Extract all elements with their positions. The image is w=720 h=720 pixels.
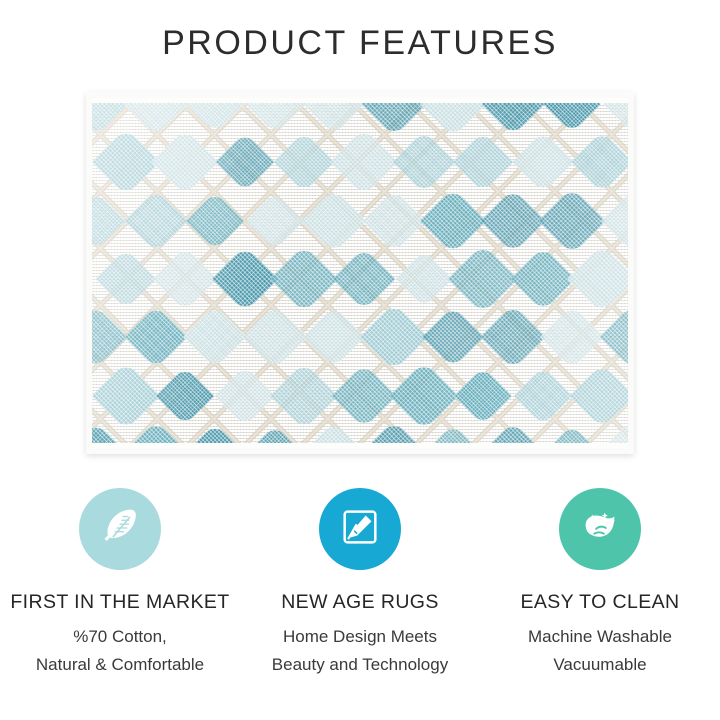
rug-motif-tile [480, 421, 545, 454]
feature-badge-2 [319, 488, 401, 570]
rug-motif-tile [183, 305, 247, 369]
feature-desc-3: Machine Washable Vacuumable [528, 623, 672, 679]
rug-motif-tile [389, 361, 459, 431]
rug-motif-tile [122, 420, 189, 454]
rug-motif-tile [124, 305, 188, 369]
design-pen-ruler-icon [337, 504, 383, 555]
feature-desc-2-line-1: Home Design Meets [272, 623, 448, 651]
feature-desc-1-line-2: Natural & Comfortable [36, 651, 204, 679]
rug-motif-tile [331, 363, 396, 428]
rug-motif-tile [270, 362, 338, 430]
rug-motifs [92, 98, 628, 448]
rug-motif-tile [214, 365, 275, 426]
rug-motif-tile [567, 244, 634, 314]
rug-motif-tile [360, 420, 428, 454]
rug-motif-tile [185, 423, 246, 454]
feature-badge-1 [79, 488, 161, 570]
rug-motif-tile [274, 132, 335, 193]
rug-motif-tile [86, 191, 125, 250]
rug-motif-tile [212, 246, 278, 312]
feature-desc-2: Home Design Meets Beauty and Technology [272, 623, 448, 679]
rug-motif-tile [152, 129, 219, 196]
feature-badge-3 [559, 488, 641, 570]
product-image [86, 92, 634, 454]
rug-motif-tile [95, 248, 156, 309]
rug-motif-tile [86, 305, 128, 369]
feature-desc-1-line-1: %70 Cotton, [36, 623, 204, 651]
rug-motif-tile [156, 366, 215, 425]
feature-desc-1: %70 Cotton, Natural & Comfortable [36, 623, 204, 679]
features-row: FIRST IN THE MARKET %70 Cotton, Natural … [0, 488, 720, 679]
rug-motif-tile [454, 367, 512, 425]
feature-title-3: EASY TO CLEAN [520, 591, 679, 614]
rug-top-edge [92, 98, 628, 103]
rug-motif-tile [423, 424, 483, 454]
rug-motif-tile [395, 250, 452, 307]
rug-motif-tile [570, 363, 634, 428]
rug-motif-tile [330, 128, 398, 196]
feature-desc-3-line-2: Vacuumable [528, 651, 672, 679]
feature-desc-2-line-2: Beauty and Technology [272, 651, 448, 679]
rug-motif-tile [245, 191, 304, 250]
rug-photo [86, 92, 634, 454]
rug-motif-tile [597, 419, 634, 454]
rug-motif-tile [512, 131, 574, 193]
rug-motif-tile [362, 189, 426, 253]
rug-motif-tile [453, 132, 514, 193]
rug-motif-tile [448, 244, 518, 314]
rug-motif-tile [360, 303, 428, 371]
rug-motif-tile [392, 131, 455, 194]
rug-motif-tile [599, 305, 634, 370]
feature-title-2: NEW AGE RUGS [281, 591, 439, 614]
rug-motif-tile [246, 425, 304, 454]
rug-motif-tile [422, 306, 484, 368]
rug-motif-tile [539, 187, 607, 255]
rug-motif-tile [540, 305, 604, 369]
rug-motif-tile [91, 361, 160, 430]
feature-new-age-rugs: NEW AGE RUGS Home Design Meets Beauty an… [240, 488, 480, 679]
rug-motif-tile [480, 304, 546, 370]
feather-icon [97, 504, 143, 555]
page-title: PRODUCT FEATURES [0, 24, 720, 63]
rug-motif-tile [420, 187, 486, 253]
rug-motif-tile [270, 245, 338, 313]
feature-desc-3-line-1: Machine Washable [528, 623, 672, 651]
rug-motif-tile [302, 421, 367, 454]
rug-motif-tile [215, 133, 274, 192]
rug-motif-tile [480, 188, 545, 253]
feature-title-1: FIRST IN THE MARKET [10, 591, 229, 614]
rug-motif-tile [186, 191, 245, 250]
washing-sparkle-icon [577, 504, 623, 555]
rug-motif-tile [303, 306, 365, 368]
rug-motif-tile [124, 189, 187, 252]
rug-motif-tile [510, 246, 575, 311]
rug-motif-tile [571, 131, 633, 193]
feature-easy-to-clean: EASY TO CLEAN Machine Washable Vacuumabl… [480, 488, 720, 679]
rug-motif-tile [242, 305, 307, 370]
rug-motif-tile [601, 190, 634, 252]
rug-motif-tile [86, 422, 128, 454]
feature-first-in-the-market: FIRST IN THE MARKET %70 Cotton, Natural … [0, 488, 240, 679]
rug-motif-tile [543, 425, 602, 454]
rug-motif-tile [302, 188, 367, 253]
rug-motif-tile [513, 366, 572, 425]
rug-motif-tile [332, 247, 395, 310]
rug-motif-tile [92, 128, 160, 196]
rug-motif-tile [153, 246, 218, 311]
rug-bottom-edge [92, 443, 628, 448]
